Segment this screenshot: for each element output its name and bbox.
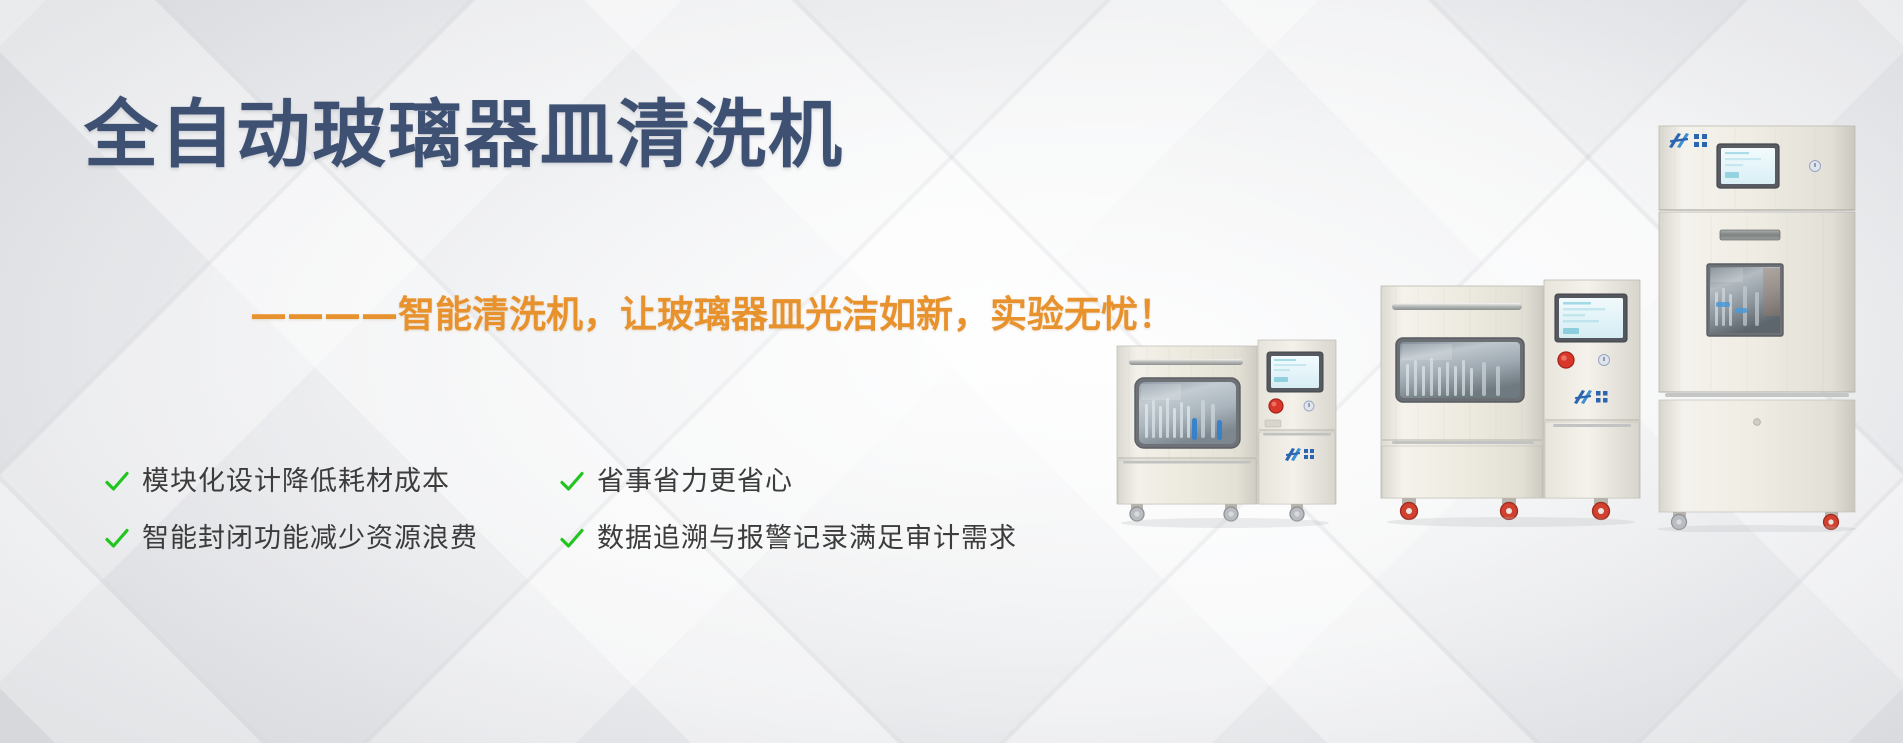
- machine-freestanding-washer: [1378, 272, 1644, 530]
- feature-label: 数据追溯与报警记录满足审计需求: [597, 525, 1017, 552]
- machine-2-graphic: [1378, 272, 1644, 530]
- feature-label: 省事省力更省心: [597, 468, 793, 495]
- feature-item: 智能封闭功能减少资源浪费: [104, 525, 559, 552]
- check-icon: [104, 526, 130, 552]
- feature-item: 模块化设计降低耗材成本: [104, 468, 559, 495]
- door-handle-icon: [1129, 359, 1243, 365]
- emergency-stop-icon: [1269, 399, 1283, 413]
- feature-row: 模块化设计降低耗材成本 省事省力更省心: [104, 468, 1054, 495]
- lock-icon: [1754, 419, 1761, 426]
- product-banner: 全自动玻璃器皿清洗机 ————智能清洗机，让玻璃器皿光洁如新，实验无忧！ 模块化…: [0, 0, 1903, 743]
- door-handle-icon: [1392, 303, 1522, 310]
- check-icon: [559, 469, 585, 495]
- feature-row: 智能封闭功能减少资源浪费 数据追溯与报警记录满足审计需求: [104, 525, 1054, 552]
- emergency-stop-icon: [1558, 352, 1574, 368]
- machine-3-graphic: [1655, 122, 1865, 532]
- feature-label: 模块化设计降低耗材成本: [142, 468, 450, 495]
- caster-wheel-icon: [1401, 498, 1610, 520]
- feature-list: 模块化设计降低耗材成本 省事省力更省心 智能封闭功能减少资源浪费: [104, 468, 1054, 582]
- machine-tall-cabinet-washer: [1655, 122, 1865, 532]
- feature-item: 省事省力更省心: [559, 468, 1029, 495]
- machine-undercounter-washer: [1113, 330, 1353, 530]
- machine-1-graphic: [1113, 330, 1353, 530]
- page-title: 全自动玻璃器皿清洗机: [84, 98, 844, 172]
- check-icon: [104, 469, 130, 495]
- check-icon: [559, 526, 585, 552]
- feature-label: 智能封闭功能减少资源浪费: [142, 525, 478, 552]
- banner-subtitle: ————智能清洗机，让玻璃器皿光洁如新，实验无忧！: [250, 296, 1175, 333]
- feature-item: 数据追溯与报警记录满足审计需求: [559, 525, 1029, 552]
- banner-text-content: 全自动玻璃器皿清洗机 ————智能清洗机，让玻璃器皿光洁如新，实验无忧！ 模块化…: [0, 0, 1100, 743]
- door-handle-icon: [1720, 230, 1780, 240]
